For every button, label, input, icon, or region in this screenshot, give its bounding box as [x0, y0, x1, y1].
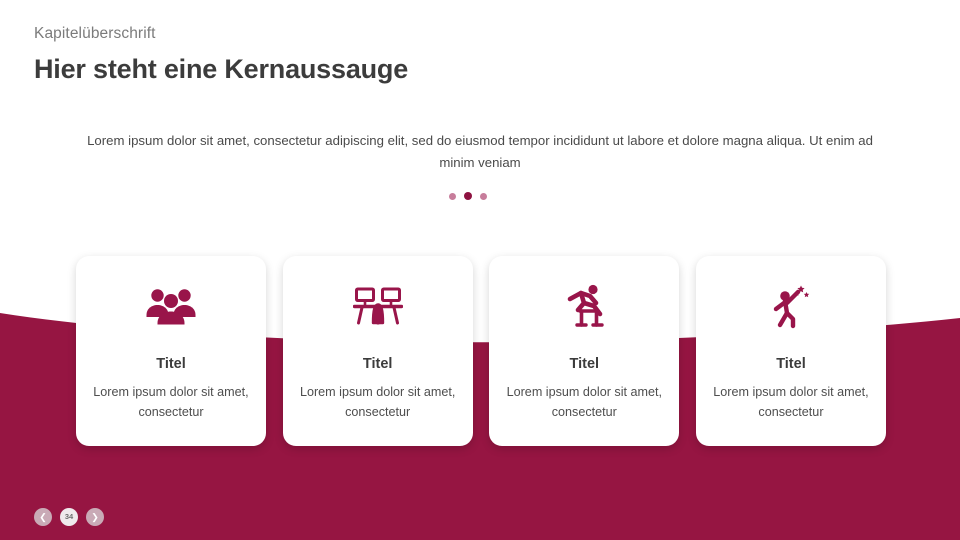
carousel-dot-3[interactable]: [480, 193, 487, 200]
previous-slide-button[interactable]: ❮: [34, 508, 52, 526]
celebrating-person-icon: [771, 280, 811, 332]
group-of-people-icon: [146, 280, 196, 332]
next-slide-button[interactable]: ❯: [86, 508, 104, 526]
card-title: Titel: [570, 356, 600, 372]
page-number-badge: 34: [60, 508, 78, 526]
desk-workstation-icon: [353, 280, 403, 332]
carousel-dot-1[interactable]: [449, 193, 456, 200]
slide-header: Kapitelüberschrift Hier steht eine Kerna…: [34, 24, 408, 88]
slide-navigation: ❮ 34 ❯: [34, 508, 104, 526]
card-description: Lorem ipsum dolor sit amet, consectetur: [498, 382, 670, 423]
card-description: Lorem ipsum dolor sit amet, consectetur: [292, 382, 464, 423]
hurdle-runner-icon: [560, 280, 608, 332]
card-title: Titel: [776, 356, 806, 372]
feature-card-1[interactable]: Titel Lorem ipsum dolor sit amet, consec…: [76, 256, 266, 446]
intro-paragraph: Lorem ipsum dolor sit amet, consectetur …: [85, 130, 875, 174]
card-description: Lorem ipsum dolor sit amet, consectetur: [705, 382, 877, 423]
feature-card-2[interactable]: Titel Lorem ipsum dolor sit amet, consec…: [283, 256, 473, 446]
card-title: Titel: [363, 356, 393, 372]
carousel-dot-2-active[interactable]: [464, 192, 472, 200]
feature-card-row: Titel Lorem ipsum dolor sit amet, consec…: [76, 256, 886, 446]
chapter-eyebrow: Kapitelüberschrift: [34, 24, 408, 44]
chevron-right-icon: ❯: [91, 513, 99, 522]
card-description: Lorem ipsum dolor sit amet, consectetur: [85, 382, 257, 423]
carousel-dots: [449, 192, 487, 200]
feature-card-3[interactable]: Titel Lorem ipsum dolor sit amet, consec…: [489, 256, 679, 446]
page-title: Hier steht eine Kernaussauge: [34, 51, 408, 87]
chevron-left-icon: ❮: [39, 513, 47, 522]
card-title: Titel: [156, 356, 186, 372]
feature-card-4[interactable]: Titel Lorem ipsum dolor sit amet, consec…: [696, 256, 886, 446]
